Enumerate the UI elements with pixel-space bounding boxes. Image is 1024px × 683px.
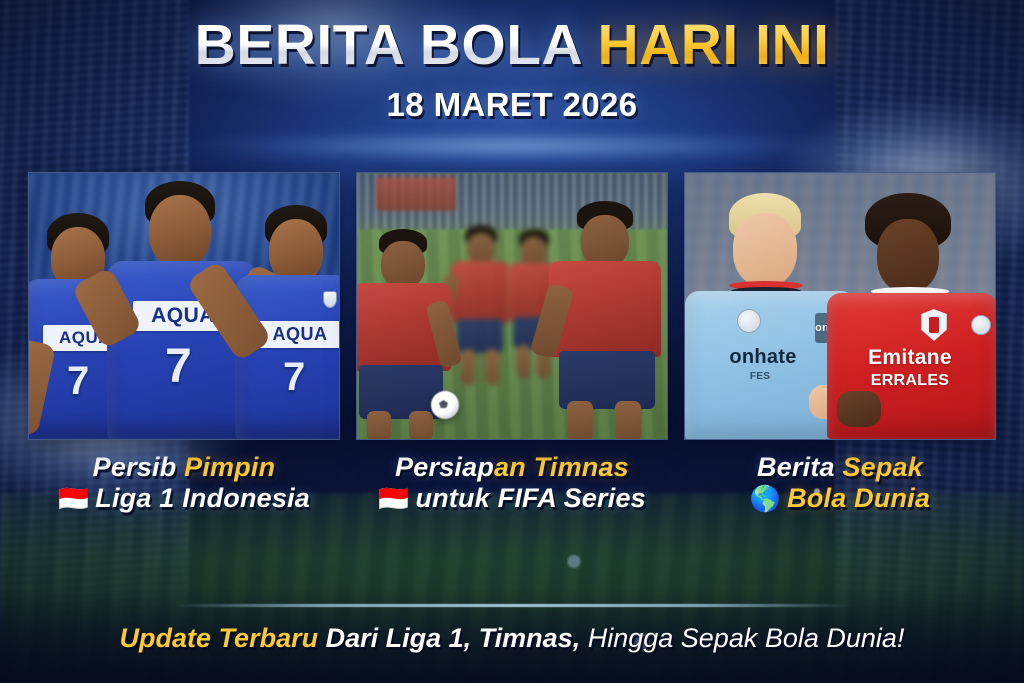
photo-persib-celebration: AQUA 7 AQUA 7 [28,172,340,440]
footer-accent: Update Terbaru [120,623,319,653]
timnas-player-foreground-right [541,201,668,440]
page-title: BERITA BOLA HARI INI [0,16,1024,74]
caption-word-white: Persib [93,452,177,482]
title-light-beam [82,126,942,166]
caption-line-2-text: untuk FIFA Series [415,483,645,513]
indonesia-flag-icon: 🇮🇩 [58,485,89,513]
caption-line-2-text: Bola Dunia [787,483,930,513]
jersey-number-right: 7 [283,355,305,400]
caption-timnas: Persiapan Timnas 🇮🇩untuk FIFA Series [356,452,668,514]
caption-word-white: Persiap [395,452,494,482]
photo-timnas-training [356,172,668,440]
news-card-timnas[interactable]: Persiapan Timnas 🇮🇩untuk FIFA Series [356,172,668,552]
title-primary: BERITA BOLA [195,13,582,77]
man-city-crest-icon [737,309,761,333]
fence-red-banner [376,177,457,211]
news-card-dunia[interactable]: onhate FES onhate Emitane ERRALES [684,172,996,552]
caption-persib: Persib Pimpin 🇮🇩Liga 1 Indonesia [28,452,340,514]
arsenal-sponsor-text: Emitane [843,345,977,371]
jersey-number-center: 7 [165,339,192,394]
football-icon [431,391,459,419]
poster-canvas: BERITA BOLA HARI INI 18 MARET 2026 AQUA … [0,0,1024,683]
caption-word-white: Berita [757,452,835,482]
caption-line-1: Berita Sepak [684,452,996,483]
caption-word-gold: Sepak [842,452,923,482]
title-accent: HARI INI [597,13,829,77]
caption-line-1: Persiapan Timnas [356,452,668,483]
photo-world-football-stars: onhate FES onhate Emitane ERRALES [684,172,996,440]
footer-tagline: Update Terbaru Dari Liga 1, Timnas, Hing… [0,622,1024,654]
caption-line-2-text: Liga 1 Indonesia [95,483,310,513]
caption-line-1: Persib Pimpin [28,452,340,483]
city-sponsor-subtext: FES [725,369,795,383]
caption-line-2: 🇮🇩untuk FIFA Series [356,483,668,514]
news-card-persib[interactable]: AQUA 7 AQUA 7 [28,172,340,552]
persib-player-right: AQUA 7 [235,203,340,439]
city-sponsor-text: onhate [697,345,829,369]
globe-icon: 🌎 [750,485,781,513]
poster-header: BERITA BOLA HARI INI 18 MARET 2026 [0,16,1024,124]
caption-line-2: 🌎Bola Dunia [684,483,996,514]
jersey-sponsor-right: AQUA [257,321,340,348]
news-card-row: AQUA 7 AQUA 7 [28,172,996,552]
footer-divider [170,604,854,607]
indonesia-flag-icon: 🇮🇩 [378,485,409,513]
jersey-number-left: 7 [67,359,89,404]
date-label: 18 MARET 2026 [0,86,1024,124]
caption-line-2: 🇮🇩Liga 1 Indonesia [28,483,340,514]
arsenal-sponsor-subtext: ERRALES [855,371,965,391]
footer-bold-text: Dari Liga 1, Timnas, [326,623,581,653]
footer-light-text: Hingga Sepak Bola Dunia! [588,623,905,653]
caption-dunia: Berita Sepak 🌎Bola Dunia [684,452,996,514]
caption-word-gold: an Timnas [494,452,629,482]
caption-word-gold: Pimpin [184,452,275,482]
player-saka: Emitane ERRALES [829,193,996,439]
premier-league-badge-icon [971,315,991,335]
